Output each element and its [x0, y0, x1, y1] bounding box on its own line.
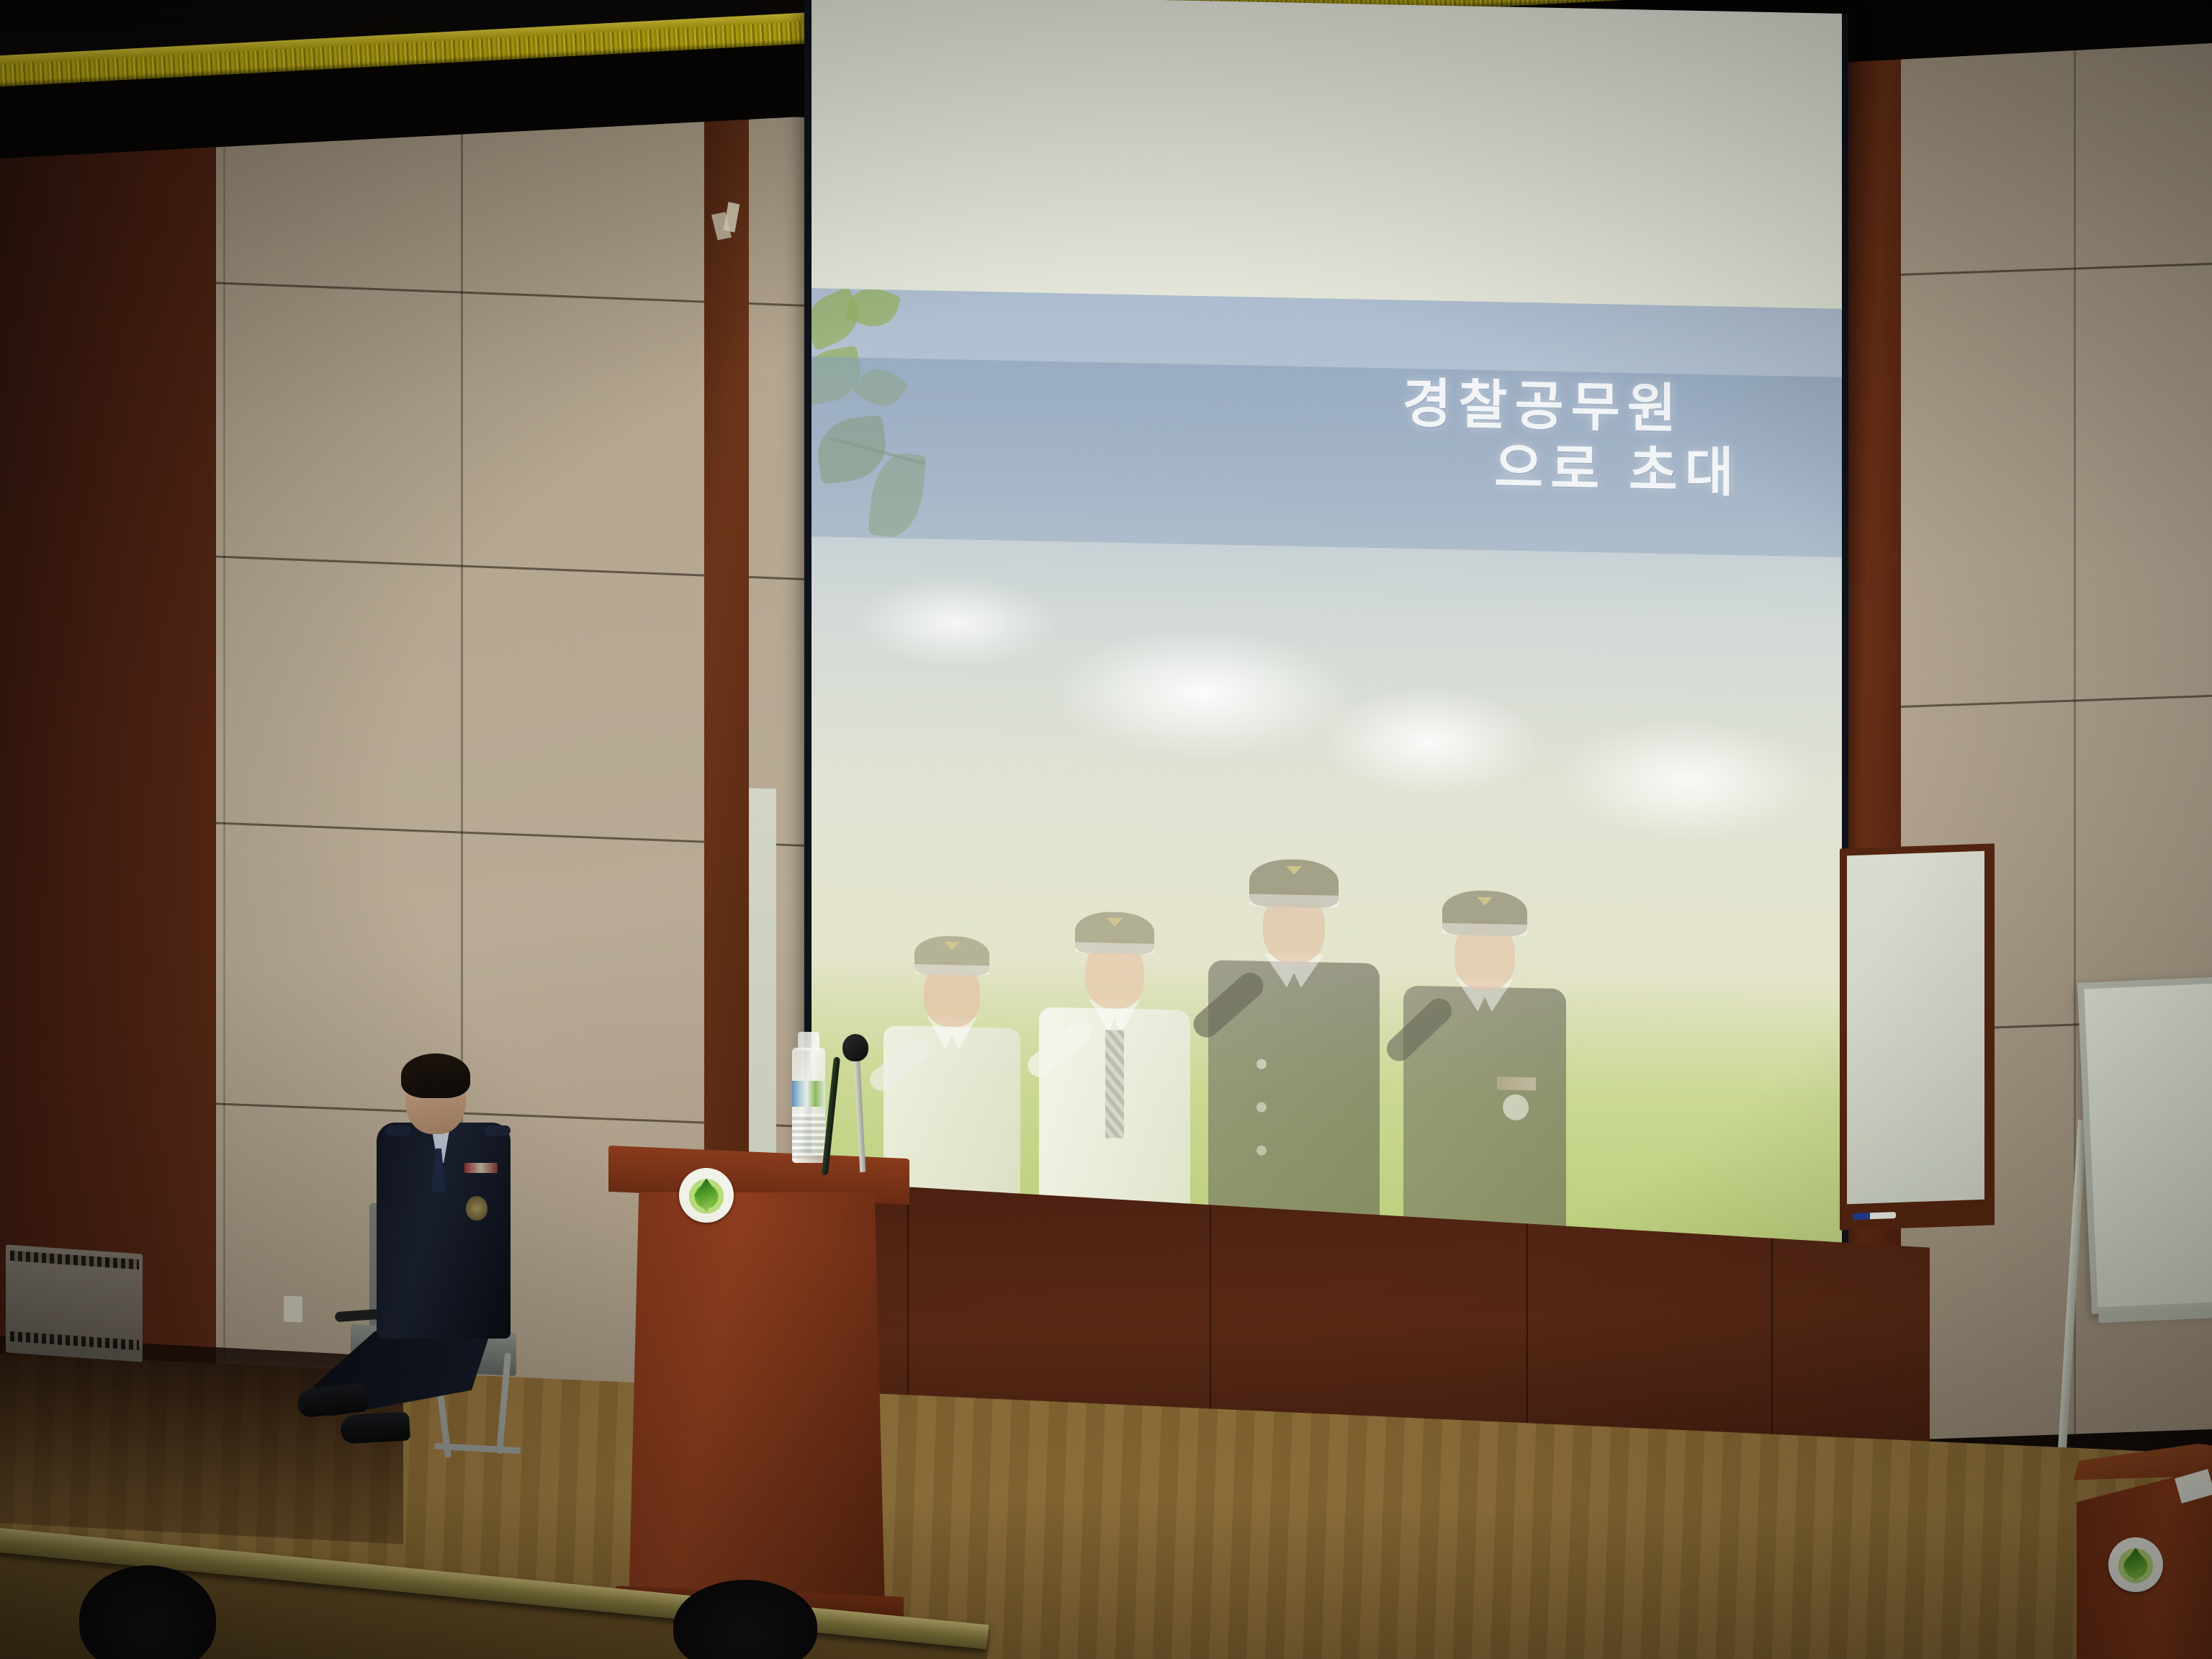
wall-mounted-whiteboard[interactable] — [1840, 843, 1995, 1231]
side-screen-strip — [749, 788, 776, 1192]
whiteboard-marker[interactable] — [1853, 1212, 1896, 1220]
wood-pillar-center — [704, 58, 749, 1212]
officer-hair — [401, 1053, 470, 1098]
lectern-emblem-icon — [679, 1168, 734, 1223]
officer-chest-badge — [466, 1196, 487, 1220]
bottle-ribs — [792, 1114, 825, 1159]
projection-screen: 경찰공무원 으로 초대 — [804, 0, 1848, 1267]
whiteboard-surface — [1847, 851, 1984, 1205]
officer-shoe-right — [340, 1412, 410, 1444]
main-lectern[interactable] — [616, 1152, 904, 1642]
easel-whiteboard-surface — [2084, 983, 2212, 1308]
officer-epaulet-right — [485, 1125, 511, 1136]
wall-heater — [6, 1244, 143, 1362]
easel-whiteboard[interactable] — [2077, 976, 2212, 1314]
water-bottle[interactable] — [792, 1048, 825, 1163]
officer-ribbon-bar — [464, 1163, 498, 1173]
officer-epaulet-left — [385, 1125, 411, 1136]
slide-officer-4 — [1388, 884, 1582, 1255]
auditorium-scene: 경찰공무원 으로 초대 — [0, 0, 2212, 1659]
officer-shoe-left — [296, 1382, 368, 1419]
bottle-cap — [798, 1032, 819, 1051]
secondary-lectern-emblem-icon — [2108, 1537, 2163, 1592]
presentation-slide: 경찰공무원 으로 초대 — [811, 288, 1842, 1261]
slide-title: 경찰공무원 으로 초대 — [811, 360, 1842, 506]
seated-officer-group — [284, 1048, 529, 1451]
lectern-body — [629, 1192, 885, 1610]
projection-screen-surface: 경찰공무원 으로 초대 — [811, 0, 1842, 1261]
slide-officer-3 — [1193, 845, 1395, 1252]
microphone-icon[interactable] — [842, 1034, 868, 1061]
bottle-label — [792, 1081, 825, 1107]
